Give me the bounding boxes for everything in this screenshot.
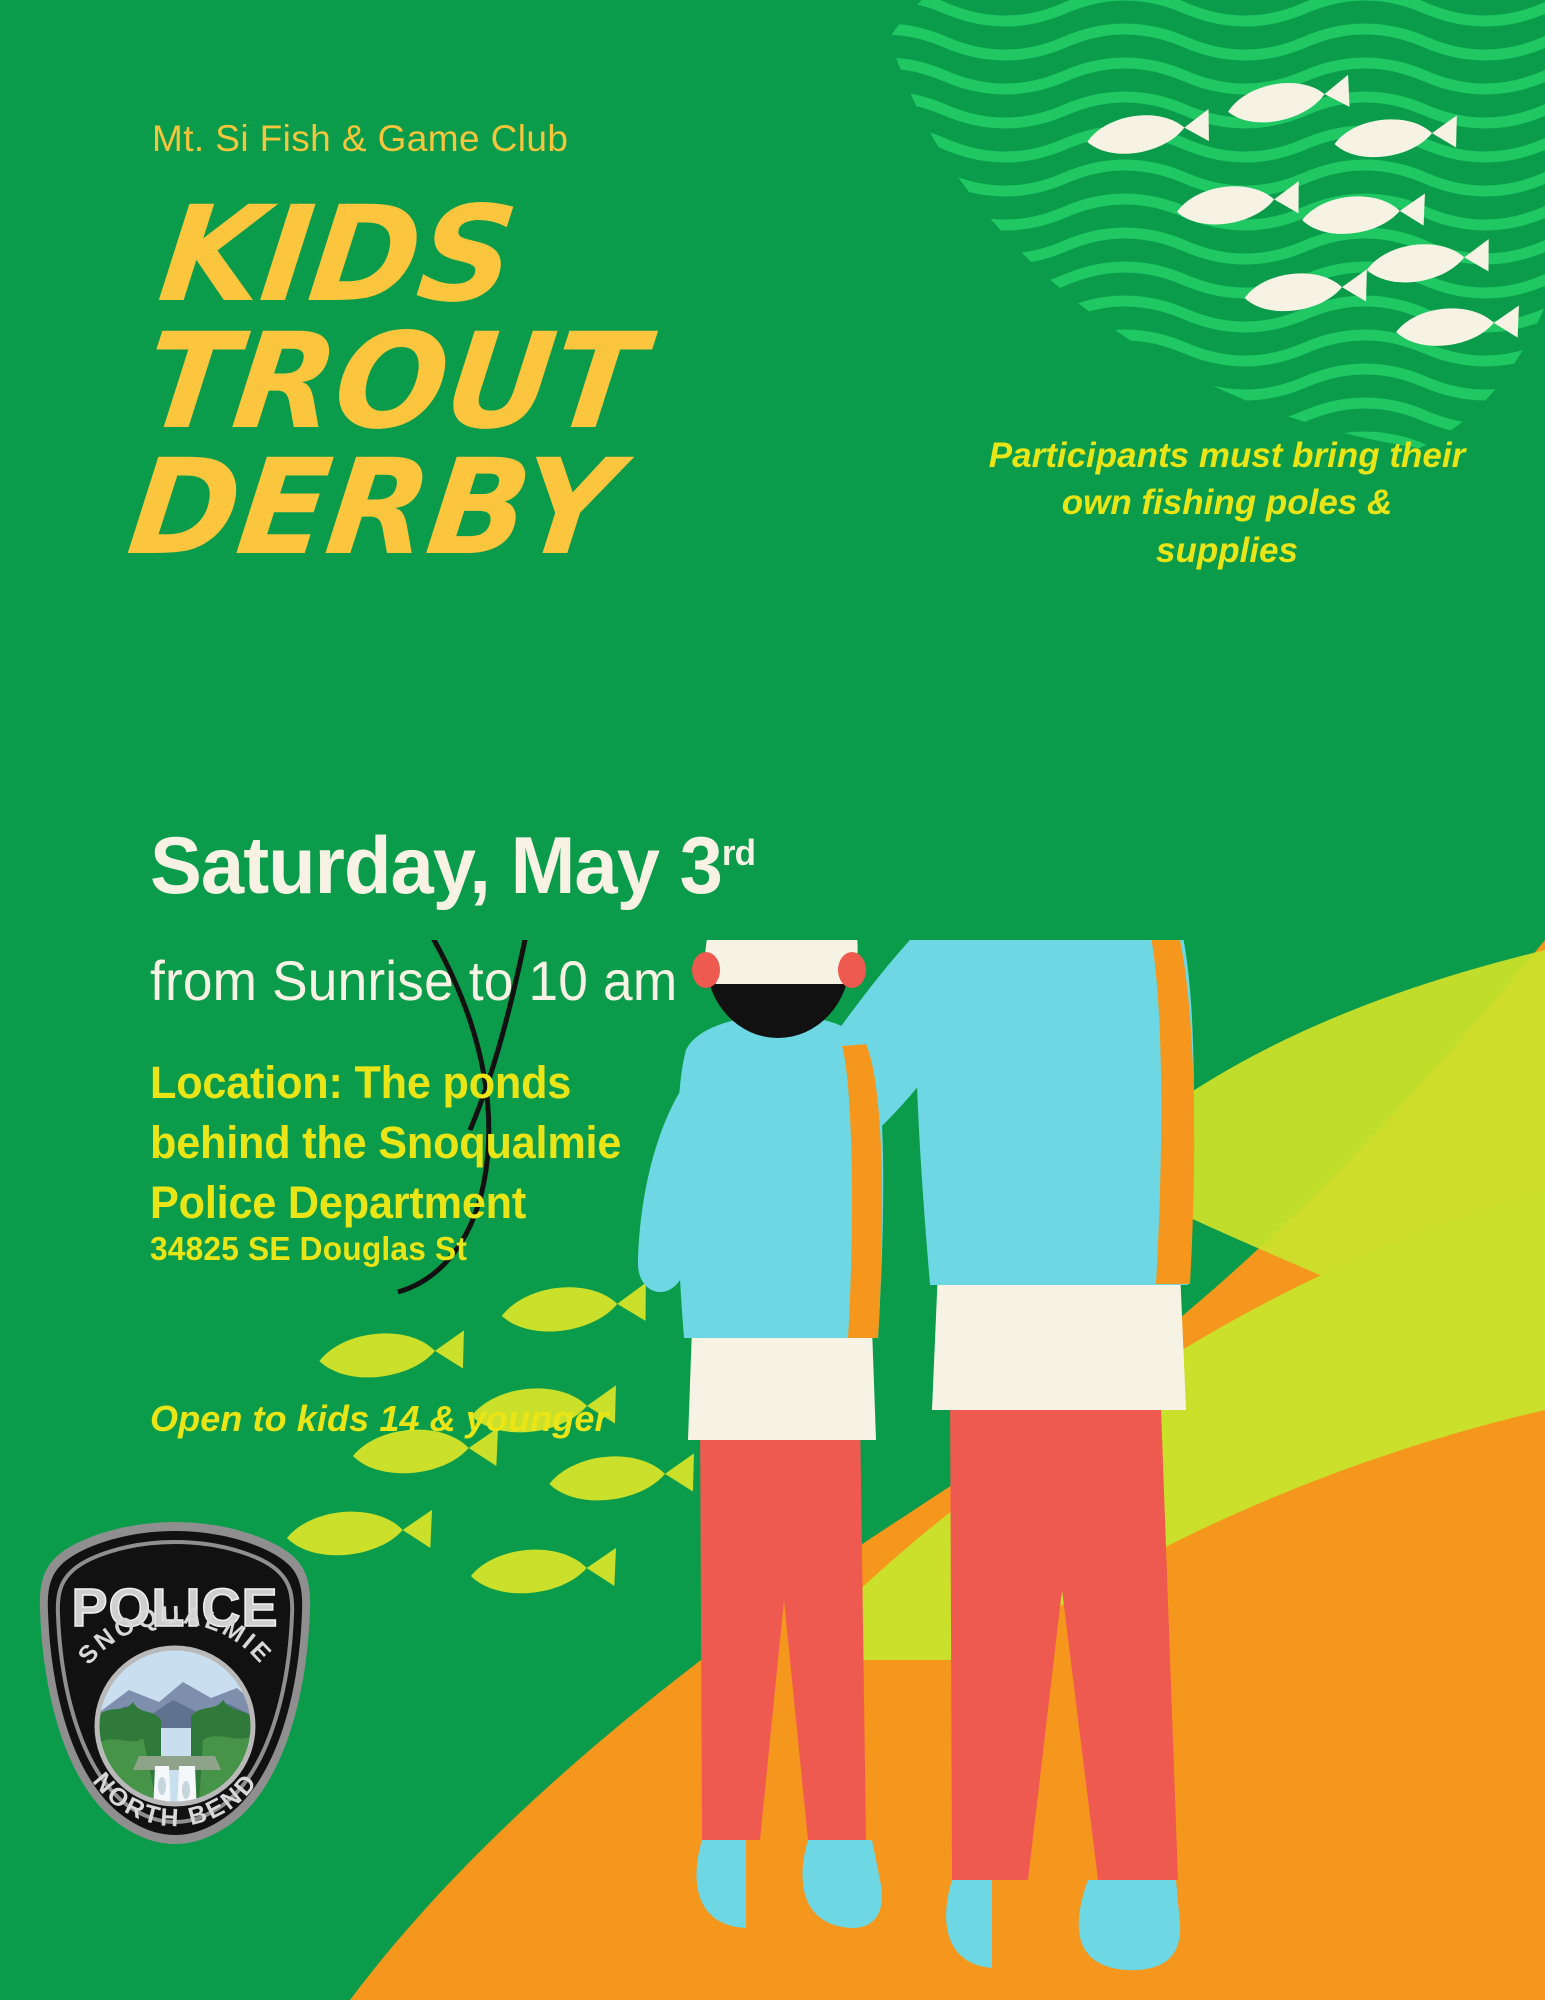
participants-note: Participants must bring their own fishin… xyxy=(987,432,1467,574)
title-line-3: DERBY xyxy=(123,445,759,572)
snoqualmie-police-badge: POLICE SNOQUALMIE xyxy=(33,1518,318,1848)
fish-school-decoration xyxy=(1065,70,1525,370)
title-line-2: TROUT xyxy=(138,319,774,446)
fish-icon xyxy=(1065,70,1525,370)
page-title: KIDS TROUT DERBY xyxy=(123,192,790,572)
age-limit-note: Open to kids 14 & younger xyxy=(150,1398,609,1440)
title-line-1: KIDS xyxy=(154,192,790,319)
event-address: 34825 SE Douglas St xyxy=(150,1230,467,1268)
event-time: from Sunrise to 10 am xyxy=(150,948,677,1013)
event-date: Saturday, May 3rd xyxy=(150,820,755,913)
club-name: Mt. Si Fish & Game Club xyxy=(152,118,568,160)
flyer-poster: Mt. Si Fish & Game Club KIDS TROUT DERBY… xyxy=(0,0,1545,2000)
event-date-suffix: rd xyxy=(722,832,755,873)
event-date-main: Saturday, May 3 xyxy=(150,821,722,911)
event-location: Location: The ponds behind the Snoqualmi… xyxy=(150,1053,668,1233)
